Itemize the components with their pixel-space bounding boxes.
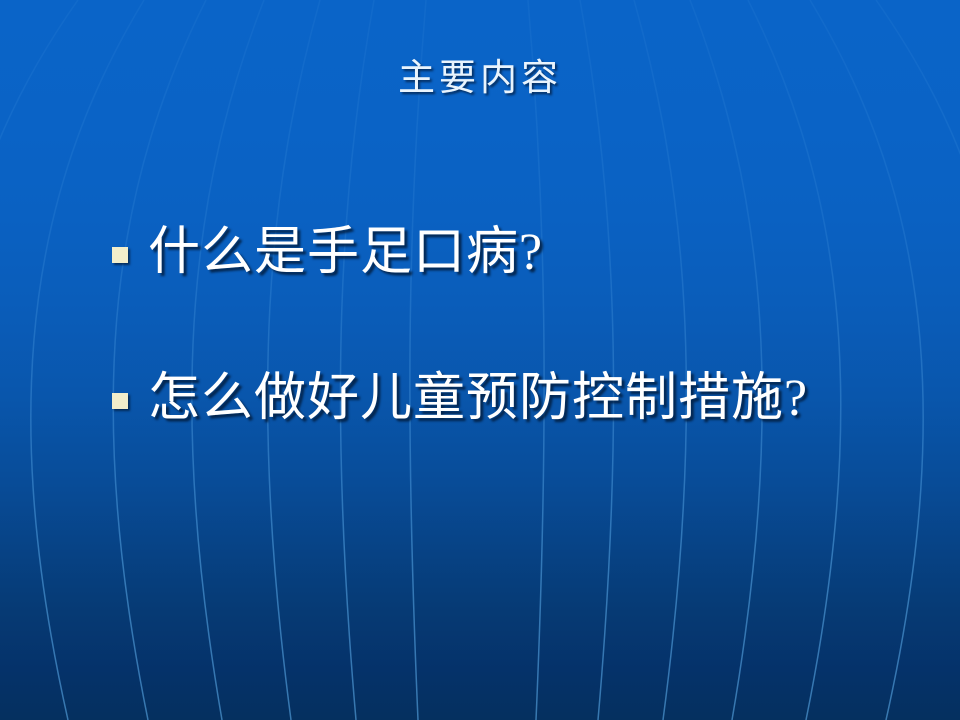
slide-title-text: 主要内容 — [398, 60, 562, 99]
list-item: 怎么做好儿童预防控制措施? — [112, 360, 952, 438]
square-bullet-icon — [112, 393, 128, 409]
list-item: 什么是手足口病? — [112, 214, 952, 292]
list-item-label: 怎么做好儿童预防控制措施? — [148, 373, 952, 425]
list-item-label: 什么是手足口病? — [148, 227, 952, 279]
presentation-slide: 主要内容 什么是手足口病? 怎么做好儿童预防控制措施? — [0, 0, 960, 720]
slide-title: 主要内容 — [0, 60, 960, 99]
slide-bullet-list: 什么是手足口病? 怎么做好儿童预防控制措施? — [112, 214, 952, 438]
square-bullet-icon — [112, 247, 128, 263]
